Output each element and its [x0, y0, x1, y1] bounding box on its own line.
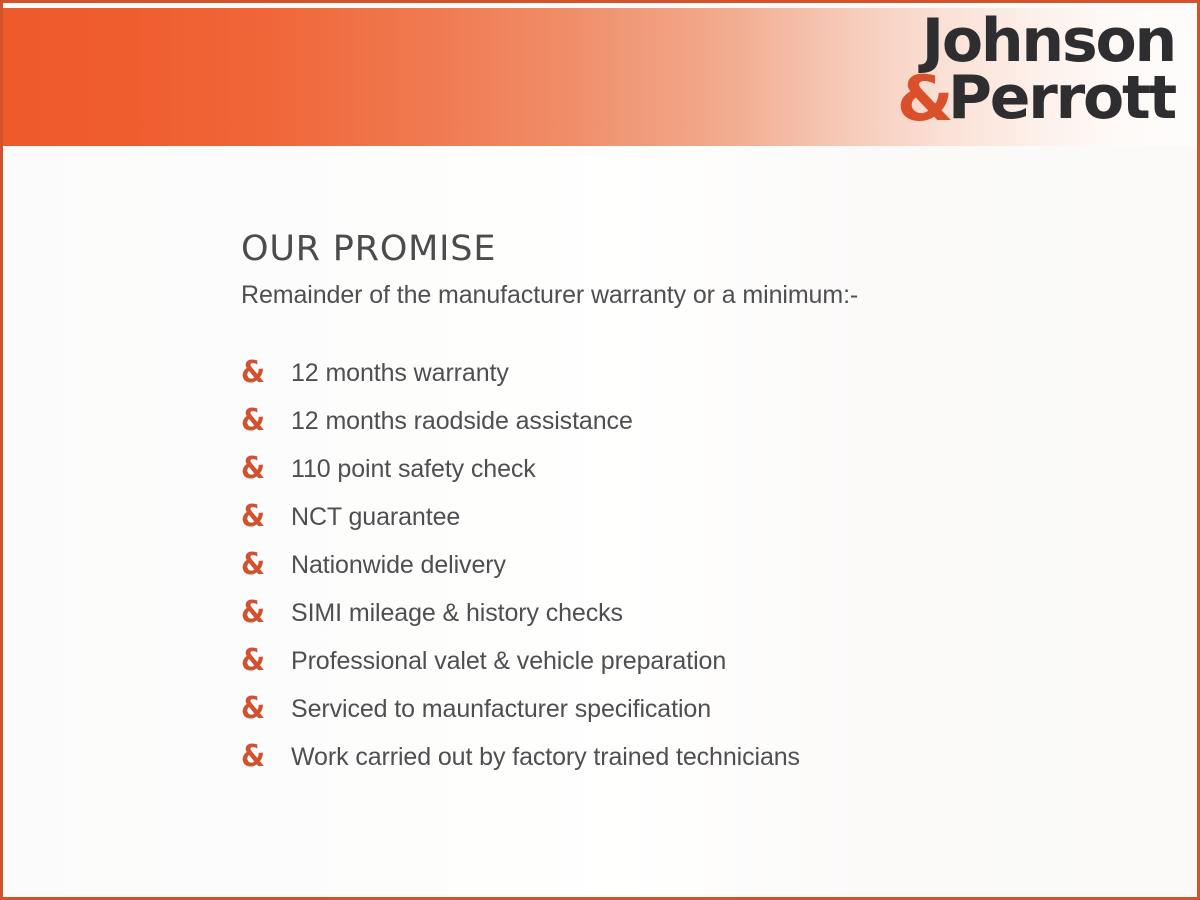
list-item: & NCT guarantee	[241, 493, 1141, 541]
logo-perrott-text: Perrott	[948, 63, 1175, 133]
promise-content: OUR PROMISE Remainder of the manufacture…	[241, 228, 1141, 781]
page-title: OUR PROMISE	[241, 228, 1141, 270]
list-item: & 12 months warranty	[241, 349, 1141, 397]
brand-logo: Johnson &Perrott	[898, 15, 1175, 125]
ampersand-bullet-icon: &	[241, 598, 287, 628]
list-item-label: 12 months raodside assistance	[291, 408, 1141, 436]
ampersand-bullet-icon: &	[241, 550, 287, 580]
ampersand-bullet-icon: &	[241, 406, 287, 436]
list-item-label: SIMI mileage & history checks	[291, 600, 1141, 628]
list-item: & Serviced to maunfacturer specification	[241, 685, 1141, 733]
list-item: & Work carried out by factory trained te…	[241, 733, 1141, 781]
list-item: & Nationwide delivery	[241, 541, 1141, 589]
ampersand-bullet-icon: &	[241, 358, 287, 388]
ampersand-bullet-icon: &	[241, 454, 287, 484]
ampersand-bullet-icon: &	[241, 694, 287, 724]
logo-line-johnson: Johnson	[898, 15, 1175, 68]
list-item: & SIMI mileage & history checks	[241, 589, 1141, 637]
list-item: & 110 point safety check	[241, 445, 1141, 493]
list-item: & Professional valet & vehicle preparati…	[241, 637, 1141, 685]
list-item-label: Professional valet & vehicle preparation	[291, 648, 1141, 676]
promise-list: & 12 months warranty & 12 months raodsid…	[241, 349, 1141, 781]
promise-subtitle: Remainder of the manufacturer warranty o…	[241, 280, 1141, 311]
list-item-label: Work carried out by factory trained tech…	[291, 744, 1141, 772]
ampersand-bullet-icon: &	[241, 646, 287, 676]
list-item-label: Serviced to maunfacturer specification	[291, 696, 1141, 724]
logo-ampersand-icon: &	[897, 72, 950, 127]
ampersand-bullet-icon: &	[241, 502, 287, 532]
list-item-label: Nationwide delivery	[291, 552, 1141, 580]
logo-line-perrott: &Perrott	[898, 70, 1175, 125]
ampersand-bullet-icon: &	[241, 742, 287, 772]
list-item-label: NCT guarantee	[291, 504, 1141, 532]
list-item-label: 12 months warranty	[291, 360, 1141, 388]
list-item-label: 110 point safety check	[291, 456, 1141, 484]
list-item: & 12 months raodside assistance	[241, 397, 1141, 445]
promise-slide: Johnson &Perrott OUR PROMISE Remainder o…	[0, 0, 1200, 900]
